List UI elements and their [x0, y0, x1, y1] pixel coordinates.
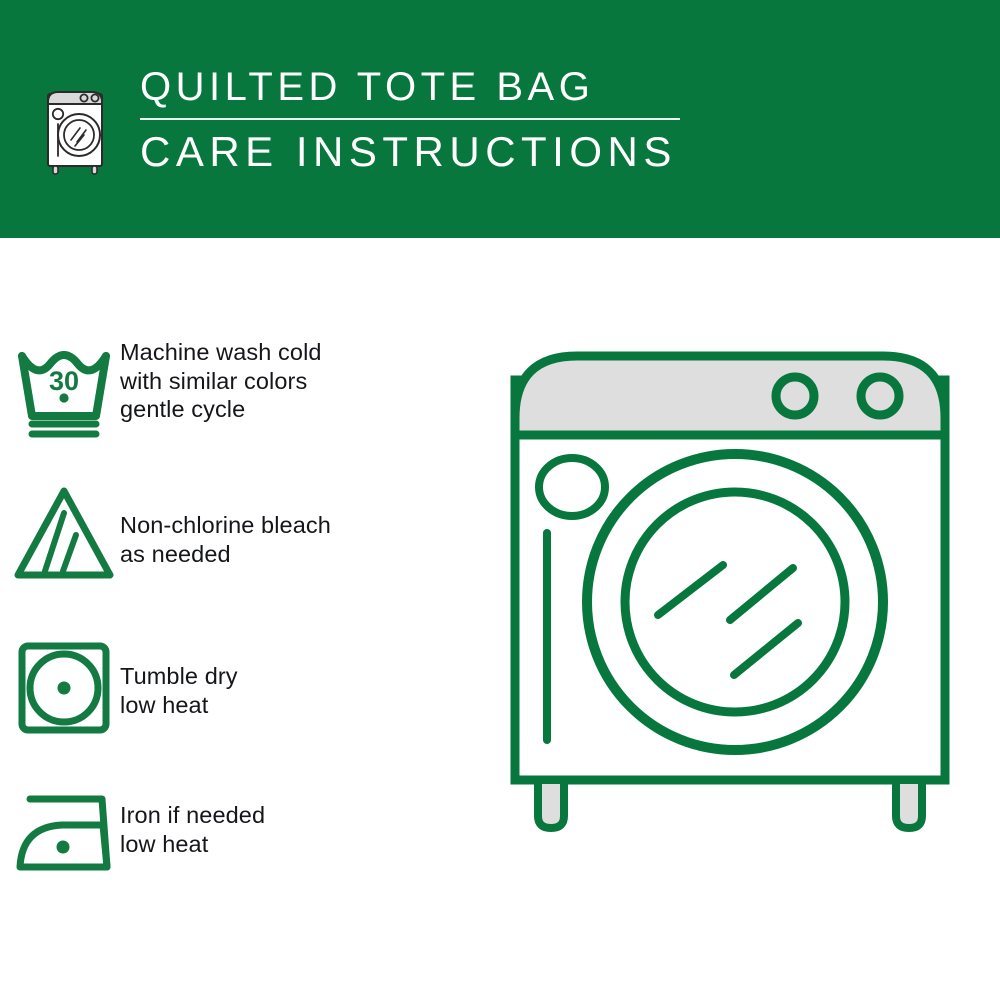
bleach-triangle-icon — [0, 483, 120, 583]
care-text-wash: Machine wash cold with similar colors ge… — [120, 338, 322, 424]
care-text-iron: Iron if needed low heat — [120, 783, 265, 858]
wash-temperature-value: 30 — [49, 366, 79, 396]
page-title: QUILTED TOTE BAG — [140, 62, 700, 112]
wash-tub-30-icon: 30 — [0, 338, 120, 438]
leg-left — [538, 780, 564, 828]
care-text-bleach: Non-chlorine bleach as needed — [120, 483, 331, 568]
care-row-wash: 30 Machine wash cold with similar colors… — [0, 338, 470, 438]
leg-right — [896, 780, 922, 828]
care-row-tumble-dry: Tumble dry low heat — [0, 638, 470, 738]
care-instructions-infographic: QUILTED TOTE BAG CARE INSTRUCTIONS 30 — [0, 0, 1000, 1000]
title-divider — [140, 118, 680, 120]
care-row-iron: Iron if needed low heat — [0, 783, 470, 883]
page-subtitle: CARE INSTRUCTIONS — [140, 126, 700, 178]
tumble-dry-square-icon — [0, 638, 120, 738]
front-load-washing-machine-illustration — [490, 330, 970, 930]
care-instruction-list: 30 Machine wash cold with similar colors… — [0, 238, 500, 1000]
care-text-tumble-dry: Tumble dry low heat — [120, 638, 238, 719]
control-panel — [515, 356, 945, 435]
washing-machine-icon — [44, 72, 106, 176]
header-title-block: QUILTED TOTE BAG CARE INSTRUCTIONS — [140, 62, 700, 178]
care-row-bleach: Non-chlorine bleach as needed — [0, 483, 470, 583]
header-band: QUILTED TOTE BAG CARE INSTRUCTIONS — [0, 0, 1000, 238]
iron-one-dot-icon — [0, 783, 120, 883]
